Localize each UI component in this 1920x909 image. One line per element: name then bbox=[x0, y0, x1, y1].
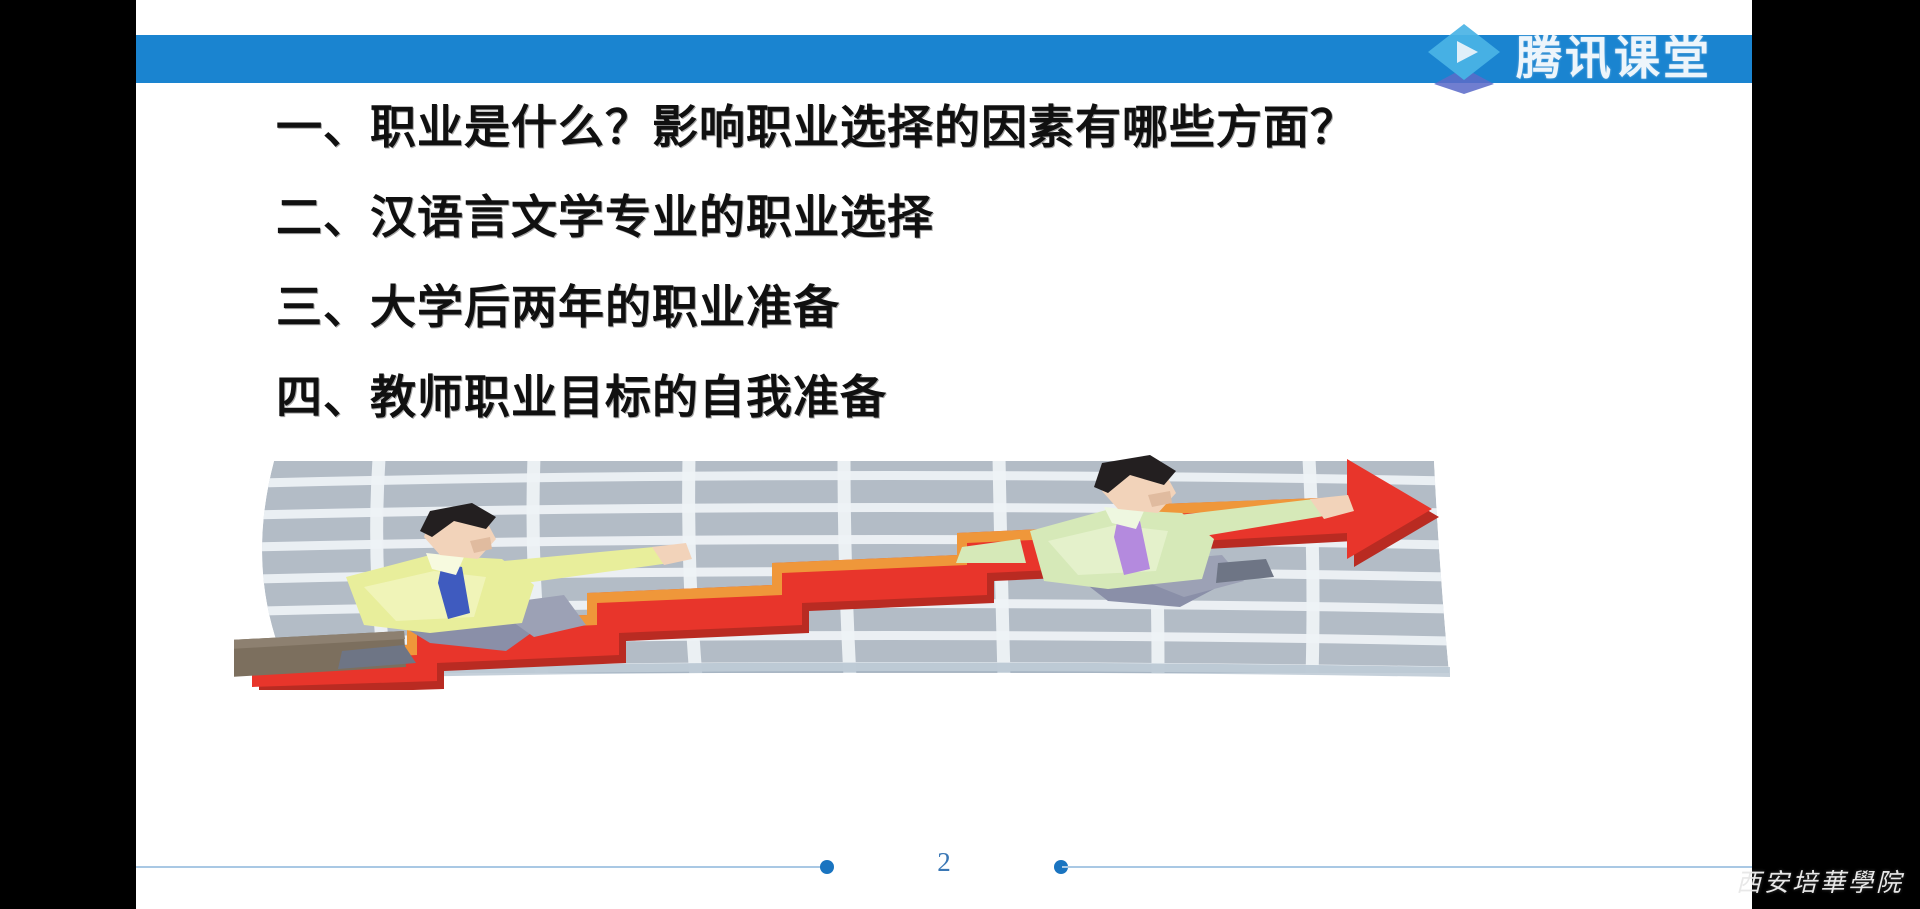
footer-rule-right bbox=[1062, 866, 1752, 868]
letterbox-left bbox=[0, 0, 136, 909]
slide-header-band bbox=[136, 35, 1752, 83]
presentation-slide: 腾讯课堂 一、职业是什么？影响职业选择的因素有哪些方面？ 二、汉语言文学专业的职… bbox=[136, 0, 1752, 909]
video-player-stage: 腾讯课堂 一、职业是什么？影响职业选择的因素有哪些方面？ 二、汉语言文学专业的职… bbox=[0, 0, 1920, 909]
page-number: 2 bbox=[136, 849, 1752, 876]
outline-item-1: 一、职业是什么？影响职业选择的因素有哪些方面？ bbox=[276, 104, 1636, 150]
outline-list: 一、职业是什么？影响职业选择的因素有哪些方面？ 二、汉语言文学专业的职业选择 三… bbox=[276, 104, 1636, 420]
school-name-watermark: 西安培華學院 bbox=[1736, 870, 1904, 895]
outline-item-3: 三、大学后两年的职业准备 bbox=[276, 284, 1636, 330]
outline-item-4: 四、教师职业目标的自我准备 bbox=[276, 374, 1636, 420]
outline-item-2: 二、汉语言文学专业的职业选择 bbox=[276, 194, 1636, 240]
businesspeople-climbing-red-arrow-illustration bbox=[234, 455, 1464, 690]
letterbox-right bbox=[1752, 0, 1920, 909]
slide-footer: 2 bbox=[136, 847, 1752, 887]
